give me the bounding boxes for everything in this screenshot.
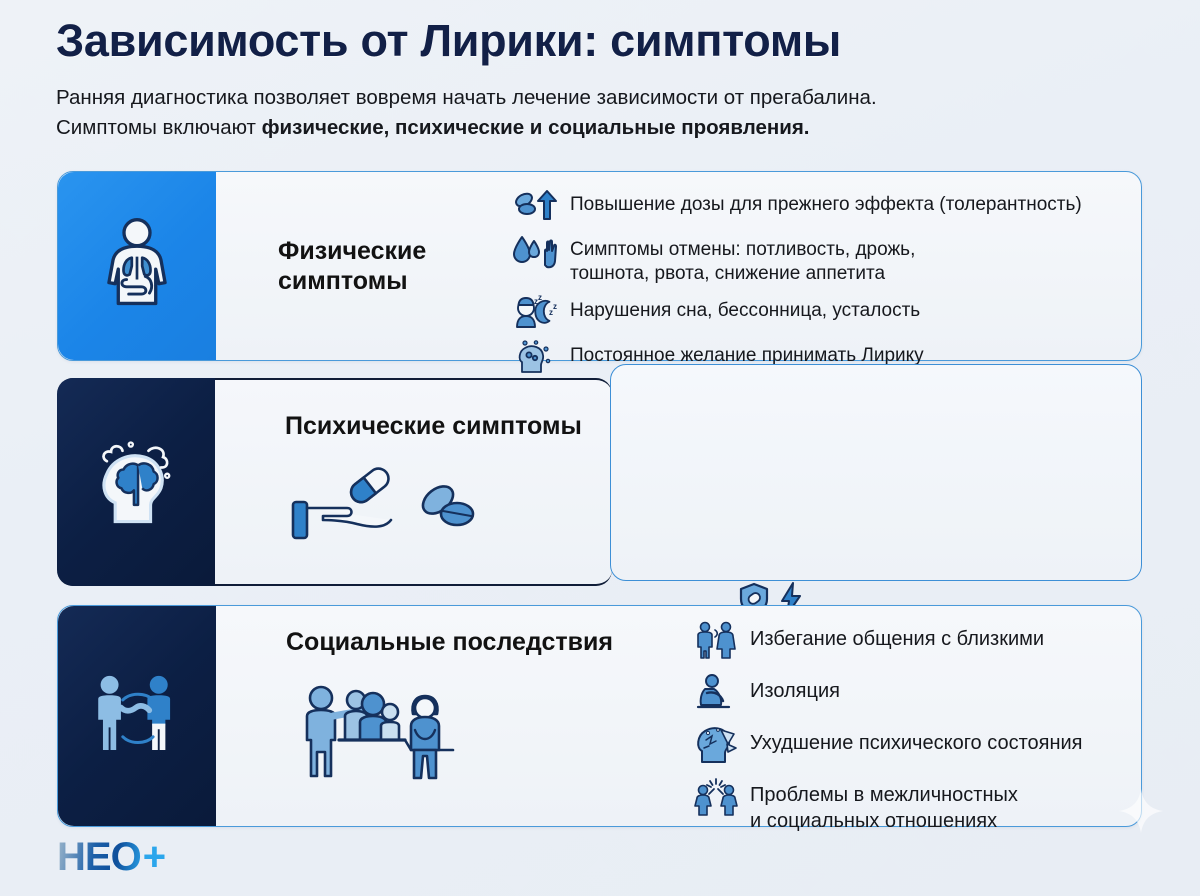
group-isolation-icon [293,668,498,788]
list-item: zz zz Нарушения сна, бессонница, усталос… [513,292,1200,332]
list-item: Повышение дозы для прежнего эффекта (тол… [513,186,1200,226]
list-item: Избегание общения с близкими [693,620,1193,660]
conflict-people-icon [693,776,739,816]
head-brain-icon [84,430,188,534]
page-subtitle: Ранняя диагностика позволяет вовремя нач… [56,83,1144,141]
brand-logo: НЕО+ [57,835,165,880]
card-mental-symptoms: Психические симптомы [57,378,1142,586]
list-item-text: Симптомы отмены: потливость, дрожь, тошн… [570,231,915,287]
list-item-text: Нарушения сна, бессонница, усталость [570,292,920,323]
logo-plus: + [143,835,165,880]
mental-outlined-box [610,364,1142,581]
sweat-drops-hand-icon [513,231,559,271]
social-heading: Социальные последствия [286,628,613,657]
logo-text: НЕО [57,835,141,880]
hand-with-pills-icon [287,456,497,556]
card-physical-symptoms: Физические симптомы Повышение дозы для п… [57,171,1142,361]
sparkle-decoration-icon [1118,788,1164,834]
subtitle-line-1: Ранняя диагностика позволяет вовремя нач… [56,86,877,109]
mental-heading: Психические симптомы [285,412,582,441]
list-item-text: Проблемы в межличностных и социальных от… [750,776,1018,834]
panel-mental [57,378,215,586]
header: Зависимость от Лирики: симптомы Ранняя д… [0,0,1200,142]
list-item-text: Изоляция [750,672,840,705]
list-item: Симптомы отмены: потливость, дрожь, тошн… [513,231,1200,287]
panel-physical [58,172,216,360]
physical-heading: Физические симптомы [278,236,493,297]
page-title: Зависимость от Лирики: симптомы [56,16,1144,66]
avoiding-people-icon [693,620,739,660]
panel-social [58,606,216,826]
human-body-organs-icon [85,214,189,318]
head-craving-icon [513,337,559,377]
list-item-text: Ухудшение психического состояния [750,724,1083,757]
svg-text:z: z [553,302,557,311]
svg-text:z: z [538,295,542,302]
sleeping-face-moon-icon: zz zz [513,292,559,332]
sitting-alone-icon [693,672,739,712]
pills-up-arrow-icon [513,186,559,226]
card-social-consequences: Социальные последствия [57,605,1142,827]
list-item: Ухудшение психического состояния [693,724,1193,764]
broken-mind-head-icon [693,724,739,764]
list-item: Изоляция [693,672,1193,712]
subtitle-line-2-bold: физические, психические и социальные про… [262,116,810,139]
physical-symptom-list: Повышение дозы для прежнего эффекта (тол… [513,186,1200,382]
list-item-text: Повышение дозы для прежнего эффекта (тол… [570,186,1082,217]
list-item-text: Избегание общения с близкими [750,620,1044,653]
two-people-handshake-icon [85,664,189,768]
subtitle-line-2-prefix: Симптомы включают [56,116,262,139]
